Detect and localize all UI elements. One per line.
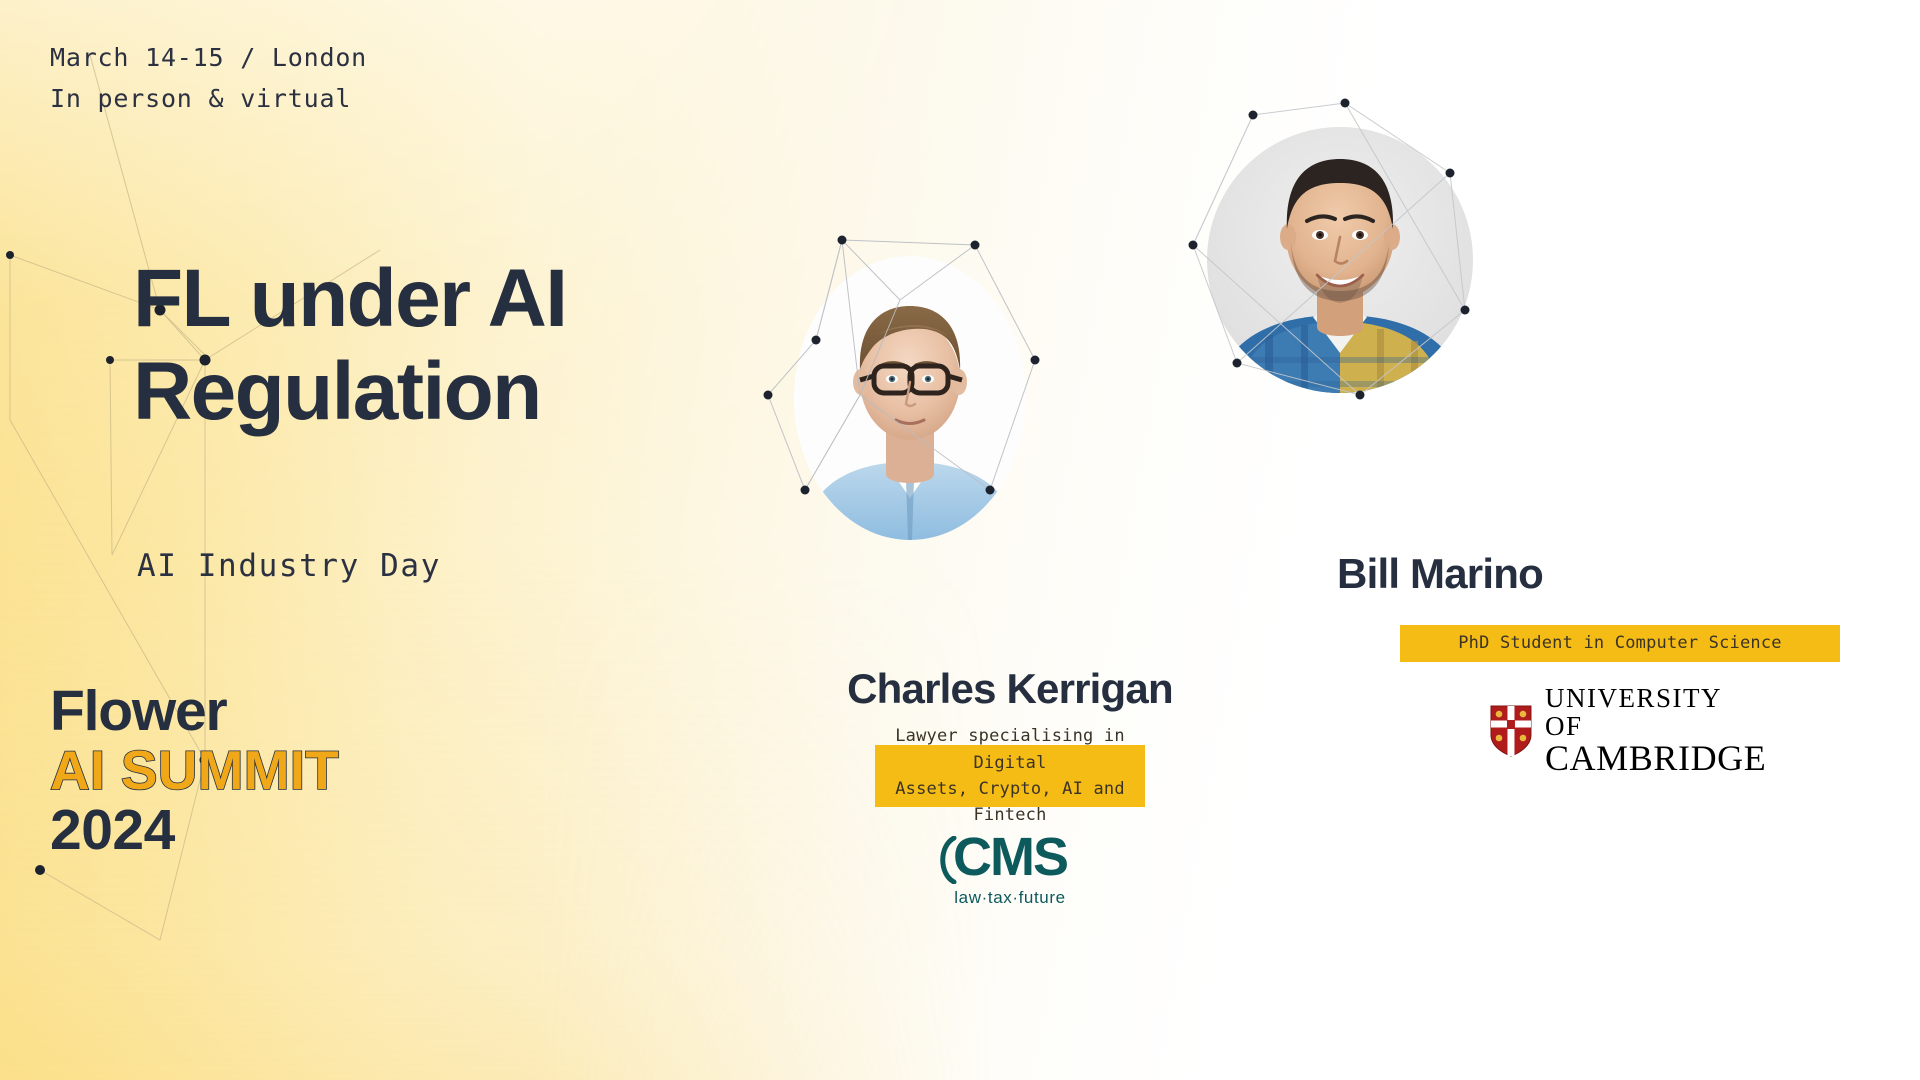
brand-year: 2024 [50, 802, 339, 859]
portrait-clip-charles [780, 230, 1040, 540]
title-line-1: FL under AI [133, 253, 566, 344]
org-logo-cambridge: UNIVERSITY OF CAMBRIDGE [1490, 685, 1766, 777]
speaker-name: Charles Kerrigan [760, 665, 1260, 713]
speaker-name: Bill Marino [1190, 550, 1690, 598]
badge-line-1: PhD Student in Computer Science [1458, 630, 1781, 656]
event-meta: March 14-15 / London In person & virtual [50, 38, 367, 119]
status-badge: PhD Student in Computer Science [1400, 625, 1840, 662]
portrait-clip-bill [1205, 125, 1475, 395]
cambridge-wordmark: UNIVERSITY OF CAMBRIDGE [1545, 685, 1766, 777]
event-format: In person & virtual [50, 84, 351, 113]
cms-tagline: law·tax·future [900, 888, 1120, 908]
title-line-2: Regulation [133, 345, 753, 438]
cms-swoosh-icon [937, 836, 957, 884]
page-subtitle: AI Industry Day [137, 548, 441, 584]
event-date-location: March 14-15 / London [50, 43, 367, 72]
cambridge-crest-icon [1490, 705, 1532, 757]
cambridge-line-2: CAMBRIDGE [1545, 740, 1766, 777]
network-pattern-left [0, 0, 1920, 1080]
cms-text: CMS [953, 827, 1067, 887]
brand-flower: Flower [50, 683, 339, 740]
page-title: FL under AIRegulation [133, 252, 753, 439]
portrait-charles-kerrigan [780, 230, 1040, 540]
cambridge-line-1: UNIVERSITY OF [1545, 685, 1766, 740]
portrait-bill-marino [1205, 125, 1475, 395]
brand-ai-summit: AI SUMMIT [50, 743, 339, 798]
cms-wordmark: CMS [953, 830, 1067, 884]
badge-line-2: Assets, Crypto, AI and Fintech [875, 776, 1145, 829]
org-logo-cms: CMS law·tax·future [900, 830, 1120, 908]
status-badge: Lawyer specialising in Digital Assets, C… [875, 745, 1145, 807]
poster-canvas: March 14-15 / London In person & virtual… [0, 0, 1920, 1080]
flower-summit-logo: Flower AI SUMMIT 2024 [50, 683, 339, 859]
badge-line-1: Lawyer specialising in Digital [875, 723, 1145, 776]
